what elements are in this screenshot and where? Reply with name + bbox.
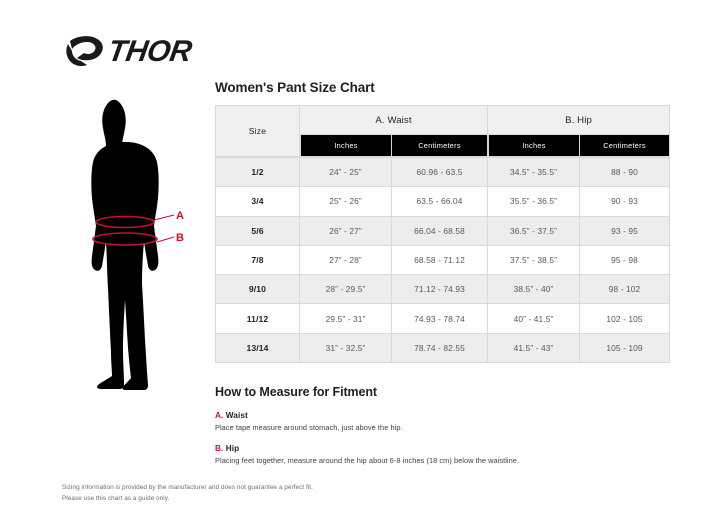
cell-hip-inches: 40” - 41.5”: [488, 304, 580, 333]
table-row: 11/12 29.5” - 31” 74.93 - 78.74 40” - 41…: [215, 304, 670, 333]
cell-waist-centimeters: 74.93 - 78.74: [392, 304, 488, 333]
column-header-size: Size: [215, 105, 300, 157]
cell-size: 5/6: [215, 217, 300, 246]
cell-waist-centimeters: 78.74 - 82.55: [392, 334, 488, 363]
cell-hip-centimeters: 90 - 93: [580, 187, 670, 216]
cell-waist-centimeters: 63.5 - 66.04: [392, 187, 488, 216]
column-header-hip-inches: Inches: [488, 135, 580, 157]
cell-hip-centimeters: 93 - 95: [580, 217, 670, 246]
cell-waist-inches: 26” - 27”: [300, 217, 392, 246]
cell-hip-centimeters: 102 - 105: [580, 304, 670, 333]
cell-waist-inches: 29.5” - 31”: [300, 304, 392, 333]
cell-waist-centimeters: 60.96 - 63.5: [392, 157, 488, 187]
leader-b: [157, 237, 174, 242]
table-row: 7/8 27” - 28” 68.58 - 71.12 37.5” - 38.5…: [215, 246, 670, 275]
cell-size: 1/2: [215, 157, 300, 187]
cell-hip-inches: 36.5” - 37.5”: [488, 217, 580, 246]
thor-helmet-icon: [66, 36, 102, 66]
measure-description-hip: Placing feet together, measure around th…: [215, 456, 670, 465]
thor-logo: THOR: [60, 28, 200, 72]
cell-hip-centimeters: 98 - 102: [580, 275, 670, 304]
body-measurement-figure: A B: [62, 96, 207, 392]
measure-marker-a: A.: [215, 411, 223, 420]
table-body: 1/2 24” - 25” 60.96 - 63.5 34.5” - 35.5”…: [215, 157, 670, 363]
column-group-header-waist: A. Waist: [300, 105, 488, 135]
thor-logo-svg: THOR: [60, 28, 200, 72]
cell-size: 7/8: [215, 246, 300, 275]
table-header: Size A. Waist B. Hip Inches Centimeters …: [215, 105, 670, 157]
table-row: 3/4 25” - 26” 63.5 - 66.04 35.5” - 36.5”…: [215, 187, 670, 216]
measure-marker-b: B.: [215, 444, 223, 453]
cell-waist-inches: 31” - 32.5”: [300, 334, 392, 363]
cell-waist-centimeters: 66.04 - 68.58: [392, 217, 488, 246]
page-title: Women's Pant Size Chart: [215, 80, 670, 95]
column-header-hip-centimeters: Centimeters: [580, 135, 670, 157]
how-to-measure-section: How to Measure for Fitment A. Waist Plac…: [215, 385, 670, 465]
cell-hip-inches: 37.5” - 38.5”: [488, 246, 580, 275]
measure-item-waist: A. Waist Place tape measure around stoma…: [215, 411, 670, 432]
cell-size: 13/14: [215, 334, 300, 363]
size-chart-table: Size A. Waist B. Hip Inches Centimeters …: [215, 105, 670, 363]
leader-a: [154, 215, 174, 220]
cell-size: 3/4: [215, 187, 300, 216]
cell-waist-inches: 28” - 29.5”: [300, 275, 392, 304]
measure-item-hip-heading: B. Hip: [215, 444, 670, 453]
disclaimer: Sizing information is provided by the ma…: [62, 483, 682, 504]
cell-hip-inches: 38.5” - 40”: [488, 275, 580, 304]
cell-size: 11/12: [215, 304, 300, 333]
table-row: 1/2 24” - 25” 60.96 - 63.5 34.5” - 35.5”…: [215, 157, 670, 187]
thor-wordmark: THOR: [106, 35, 195, 68]
callout-label-b: B: [176, 232, 184, 244]
table-row: 9/10 28” - 29.5” 71.12 - 74.93 38.5” - 4…: [215, 275, 670, 304]
measure-item-waist-heading: A. Waist: [215, 411, 670, 420]
measure-name-waist: Waist: [226, 411, 248, 420]
cell-size: 9/10: [215, 275, 300, 304]
cell-waist-centimeters: 71.12 - 74.93: [392, 275, 488, 304]
cell-waist-inches: 27” - 28”: [300, 246, 392, 275]
cell-hip-centimeters: 105 - 109: [580, 334, 670, 363]
table-row: 5/6 26” - 27” 66.04 - 68.58 36.5” - 37.5…: [215, 217, 670, 246]
svg-text:THOR: THOR: [106, 35, 195, 68]
callout-label-a: A: [176, 210, 184, 222]
cell-hip-inches: 35.5” - 36.5”: [488, 187, 580, 216]
table-row: 13/14 31” - 32.5” 78.74 - 82.55 41.5” - …: [215, 334, 670, 363]
measure-name-hip: Hip: [226, 444, 240, 453]
cell-hip-inches: 34.5” - 35.5”: [488, 157, 580, 187]
cell-waist-inches: 24” - 25”: [300, 157, 392, 187]
measure-description-waist: Place tape measure around stomach, just …: [215, 423, 670, 432]
body-silhouette-svg: A B: [62, 96, 207, 392]
cell-waist-centimeters: 68.58 - 71.12: [392, 246, 488, 275]
how-to-measure-title: How to Measure for Fitment: [215, 385, 670, 399]
cell-hip-inches: 41.5” - 43”: [488, 334, 580, 363]
disclaimer-line-1: Sizing information is provided by the ma…: [62, 483, 682, 494]
cell-hip-centimeters: 95 - 98: [580, 246, 670, 275]
measure-item-hip: B. Hip Placing feet together, measure ar…: [215, 444, 670, 465]
disclaimer-line-2: Please use this chart as a guide only.: [62, 494, 682, 505]
column-header-waist-inches: Inches: [300, 135, 392, 157]
column-header-waist-centimeters: Centimeters: [392, 135, 488, 157]
table-header-row-groups: Size A. Waist B. Hip: [215, 105, 670, 135]
cell-waist-inches: 25” - 26”: [300, 187, 392, 216]
content-column: Women's Pant Size Chart Size A. Waist B.…: [215, 80, 670, 477]
column-group-header-hip: B. Hip: [488, 105, 670, 135]
cell-hip-centimeters: 88 - 90: [580, 157, 670, 187]
